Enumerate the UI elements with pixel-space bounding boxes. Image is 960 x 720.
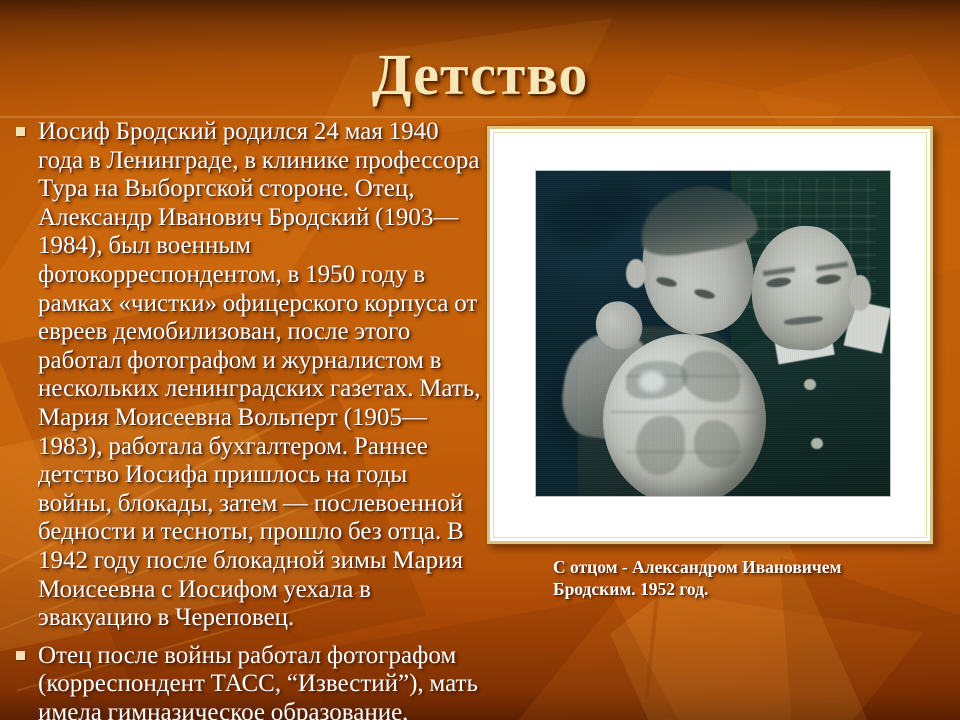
bullet-paragraph: Иосиф Бродский родился 24 мая 1940 года … bbox=[8, 118, 486, 633]
photo-blotch bbox=[586, 181, 650, 227]
square-bullet-icon bbox=[16, 651, 25, 660]
square-bullet-icon bbox=[16, 127, 25, 136]
boy-ear bbox=[626, 259, 645, 288]
globe-landmass bbox=[694, 420, 740, 468]
photo-frame bbox=[487, 126, 933, 544]
presentation-slide: Детство Иосиф Бродский родился 24 мая 19… bbox=[0, 0, 960, 720]
bullet-text: Отец после войны работал фотографом (кор… bbox=[38, 642, 486, 720]
photo-caption: С отцом - Александром Ивановичем Бродски… bbox=[553, 556, 913, 600]
man-ear bbox=[849, 275, 870, 311]
globe-meridian bbox=[626, 451, 743, 453]
globe bbox=[603, 334, 766, 497]
man-button bbox=[804, 379, 815, 390]
content-text-column: Иосиф Бродский родился 24 мая 1940 года … bbox=[8, 118, 486, 720]
bullet-paragraph: Отец после войны работал фотографом (кор… bbox=[8, 642, 486, 720]
photo-image bbox=[536, 171, 890, 496]
bullet-text: Иосиф Бродский родился 24 мая 1940 года … bbox=[38, 118, 486, 633]
globe-highlight bbox=[639, 371, 665, 392]
page-title: Детство bbox=[0, 46, 960, 104]
man-button bbox=[811, 438, 822, 449]
globe-meridian bbox=[611, 411, 758, 413]
globe-landmass bbox=[636, 416, 685, 475]
